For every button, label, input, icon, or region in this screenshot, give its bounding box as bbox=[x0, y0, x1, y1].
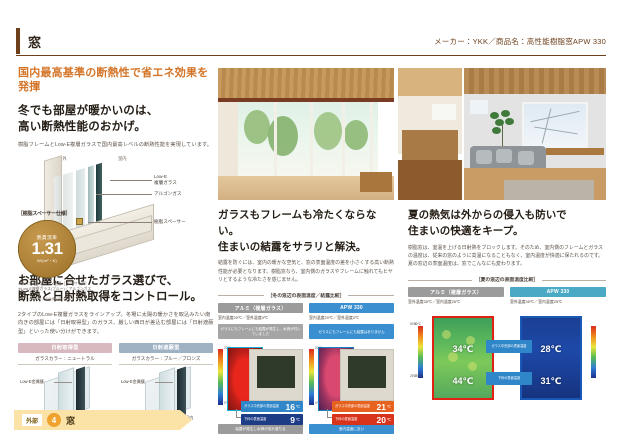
photo-small-window bbox=[470, 100, 488, 114]
badge-unit: W/(m²・K) bbox=[37, 258, 57, 264]
summer-comparison-block: ［夏の窓辺の表面温度比較］ アルミ（複層ガラス） 室外温度35℃／室内温度25℃… bbox=[408, 276, 606, 406]
window-cross-section-diagram: 室外 室内 Low-E 複層ガラス アルゴンガス 樹脂スペーサー ［樹 bbox=[18, 154, 214, 266]
thumb-glass bbox=[348, 356, 386, 388]
column-condition: 室内温度20℃／室外温度0℃ bbox=[218, 315, 303, 321]
spec-note: ※すべてのFL窓＋FIX窓用［1621サイズ］ ※Low-E複層ガラス(ブルー)… bbox=[18, 282, 94, 293]
middle-column: ガラスもフレームも冷たくならない。 住まいの結露をサラリと解決。 結露を防ぐには… bbox=[218, 208, 394, 434]
photo-table bbox=[360, 172, 392, 192]
summer-thermal-image-apw330: 28℃ 31℃ bbox=[520, 316, 582, 400]
photo-wood-ceiling bbox=[218, 68, 394, 102]
right-body-text: 樹脂窓は、室温を上げる日射熱をブロックします。そのため、室内側のフレームとガラス… bbox=[408, 245, 606, 270]
left-heading-line1: 冬でも部屋が暖かいのは、 bbox=[18, 103, 214, 120]
value-number: 20 bbox=[377, 415, 386, 425]
photo-living-room bbox=[464, 68, 606, 200]
column-footer: 室内温度に近い bbox=[309, 424, 394, 434]
right-column: 夏の熱気は外からの侵入も防いで 住まいの快適をキープ。 樹脂窓は、室温を上げる日… bbox=[408, 208, 606, 406]
page-title: 窓 bbox=[28, 32, 42, 51]
callout-argon: アルゴンガス bbox=[154, 191, 181, 197]
callout-lowe-line1: Low-E bbox=[154, 174, 167, 179]
temperature-scale-bar bbox=[309, 349, 314, 405]
left-body-text: 樹脂フレームとLow-E複層ガラスで国内最高レベルの断熱性能を実現しています。 bbox=[18, 141, 214, 150]
temperature-values: ガラス中央部の表面温度 16 ℃ 下枠の表面温度 9 ℃ bbox=[241, 399, 303, 425]
photo-dining-kitchen bbox=[398, 68, 462, 200]
spec-note-secondary: ※ユニット・ガラスの仕様は変わります bbox=[18, 296, 94, 301]
leader-line-spacer bbox=[88, 222, 152, 223]
photo-foliage bbox=[314, 112, 342, 150]
thermal-figure: 20℃ 0℃ ガラス中央部の表面温度 21 ℃ bbox=[309, 343, 394, 421]
spec-badge-block: ［樹脂スペーサー仕様］ 熱貫流率 1.31 W/(m²・K) ※すべてのFL窓＋… bbox=[18, 210, 94, 301]
value-row-glass: ガラス中央部の表面温度 21 ℃ bbox=[332, 401, 394, 412]
footer-number-badge: 4 bbox=[47, 413, 61, 427]
glass-card-solar-gain: 日射取得型 ガラスカラー：ニュートラル Low-E金属膜 室外 室内 bbox=[18, 343, 112, 422]
glass-slab-inner bbox=[76, 366, 85, 417]
winter-column-apw330: APW 330 室内温度20℃／室外温度0℃ ガラスにもフレームにも結露はありま… bbox=[309, 303, 394, 434]
maker-product-line: メーカー：YKK／商品名：高性能樹脂窓APW 330 bbox=[434, 36, 606, 47]
value-unit: ℃ bbox=[296, 417, 301, 422]
photo-mullion bbox=[370, 102, 373, 176]
glass-card-lowe-label: Low-E金属膜 bbox=[121, 379, 145, 385]
summer-scale-bottom-right: 25℃ bbox=[414, 374, 606, 378]
temperature-scale-bar bbox=[218, 349, 223, 405]
window-photo-thumb bbox=[249, 349, 303, 401]
right-heading-line1: 夏の熱気は外からの侵入も防いで bbox=[408, 208, 606, 224]
right-heading: 夏の熱気は外からの侵入も防いで 住まいの快適をキープ。 bbox=[408, 208, 606, 240]
connector bbox=[236, 409, 237, 417]
photo-leaf bbox=[490, 112, 499, 119]
left-eyebrow: 国内最高基準の断熱性で省エネ効果を発揮 bbox=[18, 66, 214, 95]
header-accent-bar bbox=[16, 28, 20, 54]
column-title: APW 330 bbox=[510, 287, 606, 297]
photo-picture-window bbox=[522, 102, 588, 152]
summer-comparison-columns: アルミ（複層ガラス） 室外温度35℃／室内温度25℃ APW 330 室外温度3… bbox=[408, 287, 606, 305]
photo-cushion bbox=[476, 150, 492, 164]
column-condition: 室外温度35℃／室内温度25℃ bbox=[510, 299, 606, 305]
photo-mullion bbox=[274, 102, 277, 176]
winter-comparison-block: ［冬の窓辺の表面温度／結露比較］ アルミ（複層ガラス） 室内温度20℃／室外温度… bbox=[218, 292, 394, 434]
glass-card-title: 日射取得型 bbox=[18, 343, 112, 353]
photo-branch bbox=[542, 108, 552, 143]
column-condition: 室外温度35℃／室内温度25℃ bbox=[408, 299, 504, 305]
winter-column-aluminium: アルミ（複層ガラス） 室内温度20℃／室外温度0℃ ガラスにもフレームにも結露が… bbox=[218, 303, 303, 434]
footer-label: 窓 bbox=[66, 414, 75, 427]
window-photo-thumb bbox=[340, 349, 394, 401]
column-title: APW 330 bbox=[309, 303, 394, 313]
photo-rug bbox=[504, 180, 594, 200]
leader-line-lowe bbox=[110, 180, 152, 181]
thermal-figure: 20℃ 0℃ ガラス中央部の表面温度 16 ℃ bbox=[218, 343, 303, 421]
value-label: 下枠の表面温度 bbox=[335, 418, 377, 422]
middle-heading-line1: ガラスもフレームも冷たくならない。 bbox=[218, 208, 394, 240]
winter-comparison-columns: アルミ（複層ガラス） 室内温度20℃／室外温度0℃ ガラスにもフレームにも結露が… bbox=[218, 303, 394, 434]
column-title: アルミ（複層ガラス） bbox=[218, 303, 303, 313]
glass-card-solar-shading: 日射遮蔽型 ガラスカラー：ブルー／ブロンズ Low-E金属膜 室外 室内 bbox=[119, 343, 213, 422]
glass-card-subtitle: ガラスカラー：ブルー／ブロンズ bbox=[119, 356, 213, 365]
photo-table-surface bbox=[398, 160, 462, 200]
photo-leaf bbox=[501, 110, 510, 117]
photo-mullion bbox=[342, 102, 345, 176]
middle-heading-line2: 住まいの結露をサラリと解決。 bbox=[218, 240, 394, 256]
photo-leaf bbox=[492, 127, 501, 134]
value-row-sill: 下枠の表面温度 9 ℃ bbox=[241, 414, 303, 425]
page-header: 窓 メーカー：YKK／商品名：高性能樹脂窓APW 330 bbox=[0, 28, 620, 58]
value-row-glass: ガラス中央部の表面温度 16 ℃ bbox=[241, 401, 303, 412]
photo-window bbox=[432, 104, 456, 120]
glass-slab-inner bbox=[177, 366, 186, 417]
summer-scale-left bbox=[418, 326, 423, 378]
photo-shelf bbox=[546, 148, 604, 155]
photo-ceiling bbox=[398, 68, 462, 96]
column-note: ガラスにもフレームにも結露はありません bbox=[309, 324, 394, 339]
photo-foliage bbox=[244, 110, 270, 144]
photo-cushion bbox=[518, 151, 534, 165]
summer-tag-glass: ガラス中央部の表面温度 bbox=[486, 340, 532, 353]
value-unit: ℃ bbox=[387, 404, 392, 409]
photo-branch bbox=[534, 127, 578, 135]
photo-foliage bbox=[344, 120, 368, 150]
photo-plant-stem bbox=[502, 124, 503, 146]
summer-column-apw330: APW 330 室外温度35℃／室内温度25℃ bbox=[510, 287, 606, 305]
glass-type-cards: 日射取得型 ガラスカラー：ニュートラル Low-E金属膜 室外 室内 日射遮蔽型… bbox=[18, 343, 214, 422]
photo-cabinet bbox=[402, 130, 458, 160]
hotspot bbox=[468, 362, 477, 371]
value-label: 下枠の表面温度 bbox=[244, 418, 290, 422]
summer-scale-right bbox=[591, 326, 596, 378]
summer-comparison-caption: ［夏の窓辺の表面温度比較］ bbox=[408, 276, 606, 283]
glass-card-leader bbox=[155, 382, 173, 383]
column-note: ガラスにもフレームにも結露が発生し、水滴が付いていました bbox=[218, 324, 303, 339]
value-number: 21 bbox=[377, 402, 386, 412]
value-number: 9 bbox=[290, 415, 295, 425]
value-unit: ℃ bbox=[387, 417, 392, 422]
summer-value-glass: 34℃ bbox=[434, 344, 492, 355]
footer-category-badge: 外部 bbox=[22, 414, 42, 426]
summer-thermal-figure: 50℃ 25℃ 34℃ 44℃ 28℃ 31℃ ガラス中央部の表面温度 下枠の表… bbox=[408, 310, 606, 406]
photo-cushion bbox=[496, 149, 512, 163]
summer-thermal-image-aluminium: 34℃ 44℃ bbox=[432, 316, 494, 400]
column-footer: 結露が発生し水滴が流れ落ちる bbox=[218, 424, 303, 434]
photo-leaf bbox=[505, 118, 514, 125]
value-label: ガラス中央部の表面温度 bbox=[335, 405, 377, 409]
callout-spacer: 樹脂スペーサー bbox=[154, 219, 186, 225]
value-unit: ℃ bbox=[296, 404, 301, 409]
photo-foliage bbox=[268, 116, 298, 156]
thumb-glass bbox=[257, 356, 295, 388]
value-label: ガラス中央部の表面温度 bbox=[244, 405, 286, 409]
temperature-values: ガラス中央部の表面温度 21 ℃ 下枠の表面温度 20 ℃ bbox=[332, 399, 394, 425]
photo-potted-plant bbox=[490, 110, 516, 140]
photo-mullion bbox=[310, 102, 313, 176]
summer-scale-top-right: 50℃ bbox=[414, 322, 606, 326]
hotspot bbox=[442, 330, 451, 339]
glass-body-text: 2タイプのLow-E複層ガラスをラインアップ。冬場に太陽の暖かさを取込みたい南向… bbox=[18, 311, 214, 337]
thermal-transmittance-badge: 熱貫流率 1.31 W/(m²・K) bbox=[18, 220, 76, 278]
middle-heading: ガラスもフレームも冷たくならない。 住まいの結露をサラリと解決。 bbox=[218, 208, 394, 255]
glass-card-title: 日射遮蔽型 bbox=[119, 343, 213, 353]
photo-interior-windows bbox=[218, 68, 394, 200]
leader-line-argon bbox=[96, 194, 152, 195]
value-row-sill: 下枠の表面温度 20 ℃ bbox=[332, 414, 394, 425]
left-column: 国内最高基準の断熱性で省エネ効果を発揮 冬でも部屋が暖かいのは、 高い断熱性能の… bbox=[18, 66, 214, 422]
connector bbox=[327, 409, 328, 417]
glass-card-subtitle: ガラスカラー：ニュートラル bbox=[18, 356, 112, 365]
glass-card-lowe-label: Low-E金属膜 bbox=[20, 379, 44, 385]
value-number: 16 bbox=[286, 402, 295, 412]
glass-card-leader bbox=[54, 382, 72, 383]
photo-leaf bbox=[495, 119, 504, 126]
photo-branch bbox=[530, 111, 579, 123]
callout-lowe-line2: 複層ガラス bbox=[154, 180, 177, 186]
badge-value: 1.31 bbox=[31, 240, 62, 257]
page-root: 窓 メーカー：YKK／商品名：高性能樹脂窓APW 330 国内最高基準の断熱性で… bbox=[0, 0, 620, 442]
middle-body-text: 結露を防ぐには、室内の暖かな空気と、窓の表面温度の差を小さくする高い断熱性能が必… bbox=[218, 260, 394, 285]
right-heading-line2: 住まいの快適をキープ。 bbox=[408, 224, 606, 240]
left-heading-line2: 高い断熱性能のおかげ。 bbox=[18, 119, 214, 136]
left-heading: 冬でも部屋が暖かいのは、 高い断熱性能のおかげ。 bbox=[18, 103, 214, 136]
column-title: アルミ（複層ガラス） bbox=[408, 287, 504, 297]
footer-ribbon: 外部 4 窓 bbox=[14, 410, 192, 430]
winter-comparison-caption: ［冬の窓辺の表面温度／結露比較］ bbox=[218, 292, 394, 299]
column-condition: 室内温度20℃／室外温度0℃ bbox=[309, 315, 394, 321]
photo-wood-ceiling bbox=[464, 68, 606, 94]
header-divider bbox=[16, 55, 606, 56]
summer-column-aluminium: アルミ（複層ガラス） 室外温度35℃／室内温度25℃ bbox=[408, 287, 504, 305]
spec-caption: ［樹脂スペーサー仕様］ bbox=[18, 210, 94, 217]
